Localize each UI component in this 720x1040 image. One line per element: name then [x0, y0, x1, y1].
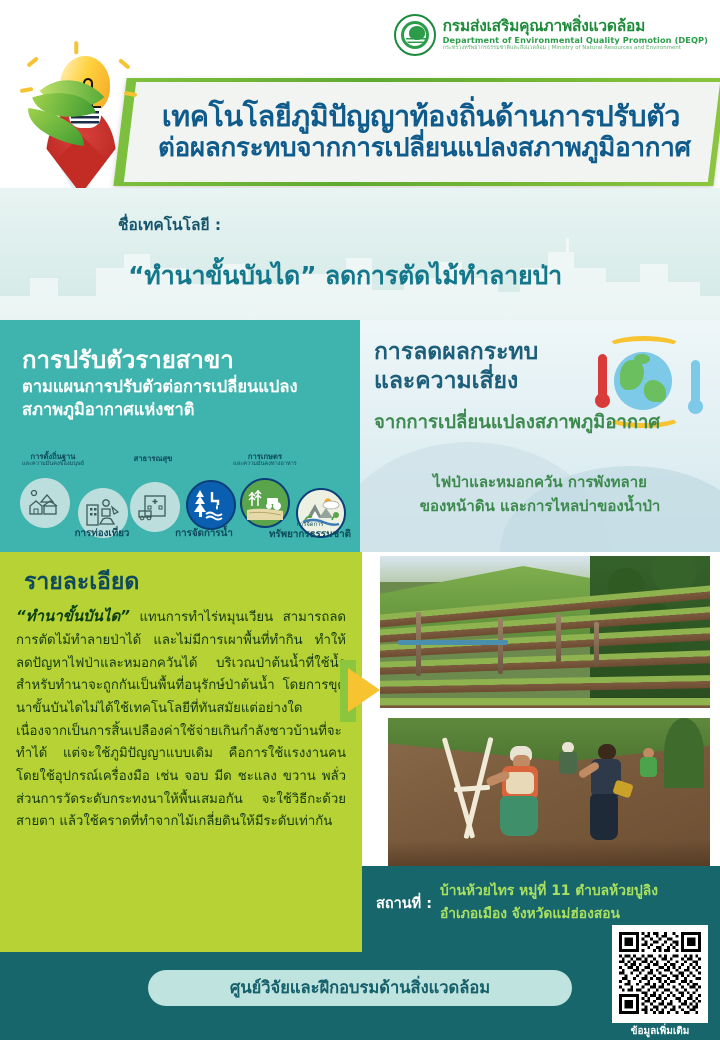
sector-label-water-management: การจัดการน้ำ [158, 528, 250, 540]
technology-label: ชื่อเทคโนโลยี : [118, 212, 221, 237]
sector-item-public-health[interactable] [130, 482, 180, 532]
mitigation-panel: การลดผลกระทบ และความเสี่ยง จากการเปลี่ยน… [360, 320, 720, 552]
adaptation-panel-subtitle: ตามแผนการปรับตัวต่อการเปลี่ยนแปลง สภาพภู… [22, 376, 342, 422]
detail-block: รายละเอียด “ทำนาขั้นบันได” แทนการทำไร่หม… [0, 552, 362, 952]
mitigation-risk-text: ไฟป่าและหมอกควัน การพังทลาย ของหน้าดิน แ… [360, 470, 720, 518]
tourism-icon [85, 498, 121, 528]
adaptation-subtitle-line1: ตามแผนการปรับตัวต่อการเปลี่ยนแปลง [22, 377, 298, 396]
mitigation-panel-subtitle: จากการเปลี่ยนแปลงสภาพภูมิอากาศ [374, 408, 704, 437]
detail-paragraph: แทนการทำไร่หมุนเวียน สามารถลดการตัดไม้ทำ… [16, 610, 346, 829]
technology-name-band: ชื่อเทคโนโลยี : “ทำนาขั้นบันได” ลดการตัด… [0, 188, 720, 320]
sector-label-natural-resources: การจัดการ ทรัพยากรธรรมชาติ [258, 522, 362, 541]
qr-code-box[interactable] [612, 925, 708, 1023]
deqp-logo: กรมส่งเสริมคุณภาพสิ่งแวดล้อม Department … [394, 14, 708, 56]
qr-caption: ข้อมูลเพิ่มเติม [612, 1024, 708, 1039]
main-title-ribbon: เทคโนโลยีภูมิปัญญาท้องถิ่นด้านการปรับตัว… [113, 78, 720, 186]
sector-label-agriculture: การเกษตร และความมั่นคงทางอาหาร [220, 452, 310, 468]
farmers-leveling-field-photo [388, 718, 710, 866]
location-value: บ้านห้วยไทร หมู่ที่ 11 ตำบลห้วยปูลิง อำเ… [440, 880, 710, 926]
agriculture-icon [245, 486, 285, 520]
org-name-thai: กรมส่งเสริมคุณภาพสิ่งแวดล้อม [443, 18, 708, 34]
location-line1: บ้านห้วยไทร หมู่ที่ 11 ตำบลห้วยปูลิง [440, 883, 658, 899]
mitigation-panel-title: การลดผลกระทบ และความเสี่ยง [374, 338, 538, 396]
public-health-icon [137, 492, 173, 522]
risk-line2: ของหน้าดิน และการไหลบ่าของน้ำป่า [420, 497, 661, 515]
sector-item-agriculture[interactable] [240, 478, 290, 528]
water-management-icon [192, 488, 230, 522]
org-ministry-line: กระทรวงทรัพยากรธรรมชาติและสิ่งแวดล้อม | … [443, 46, 708, 52]
thermometer-cold-icon [691, 360, 700, 406]
qr-code-icon [619, 932, 701, 1014]
poster-root: กรมส่งเสริมคุณภาพสิ่งแวดล้อม Department … [0, 0, 720, 1040]
farmer-background [638, 748, 662, 790]
sector-label-tourism: การท่องเที่ยว [52, 528, 152, 540]
center-name-label: ศูนย์วิจัยและฝึกอบรมด้านสิ่งแวดล้อม [230, 975, 490, 1001]
thermometer-hot-icon [598, 354, 607, 400]
sector-item-settlement[interactable] [20, 478, 70, 528]
main-title-line2: ต่อผลกระทบจากการเปลี่ยนแปลงสภาพภูมิอากาศ [158, 133, 712, 163]
main-title-line1: เทคโนโลยีภูมิปัญญาท้องถิ่นด้านการปรับตัว [162, 100, 716, 133]
farmer-background [556, 742, 582, 788]
ray-icon [26, 56, 38, 67]
sector-icon-row: การตั้งถิ่นฐาน และความมั่นคงของมนุษย์ [0, 452, 360, 552]
sector-label-settlement: การตั้งถิ่นฐาน และความมั่นคงของมนุษย์ [6, 452, 100, 468]
org-name-english: Department of Environmental Quality Prom… [443, 36, 708, 45]
terraced-rice-field-photo [380, 556, 710, 708]
settlement-icon [28, 488, 62, 518]
deqp-seal-icon [394, 14, 436, 56]
location-label: สถานที่ : [376, 892, 432, 915]
ray-icon [75, 41, 79, 54]
mitigation-title-line1: การลดผลกระทบ [374, 339, 538, 365]
adaptation-panel-title: การปรับตัวรายสาขา [22, 340, 234, 379]
sector-item-water-management[interactable] [186, 480, 236, 530]
ray-icon [20, 87, 33, 93]
earth-globe-icon [614, 352, 672, 410]
seal-water-icon [406, 38, 428, 45]
farmer-with-level [496, 746, 548, 850]
detail-body: “ทำนาขั้นบันได” แทนการทำไร่หมุนเวียน สาม… [16, 604, 346, 834]
sector-label-public-health: สาธารณสุข [114, 454, 192, 463]
detail-lead: “ทำนาขั้นบันได” [16, 607, 130, 625]
farmer-working [586, 744, 630, 852]
detail-title: รายละเอียด [24, 564, 139, 600]
center-name-pill[interactable]: ศูนย์วิจัยและฝึกอบรมด้านสิ่งแวดล้อม [148, 970, 572, 1006]
risk-line1: ไฟป่าและหมอกควัน การพังทลาย [433, 473, 647, 491]
ray-icon [118, 58, 130, 69]
adaptation-subtitle-line2: สภาพภูมิอากาศแห่งชาติ [22, 400, 195, 419]
location-line2: อำเภอเมือง จังหวัดแม่ฮ่องสอน [440, 906, 620, 922]
mitigation-title-line2: และความเสี่ยง [374, 368, 518, 394]
header-band: กรมส่งเสริมคุณภาพสิ่งแวดล้อม Department … [0, 0, 720, 200]
yellow-arrow-icon [348, 668, 380, 712]
technology-name: “ทำนาขั้นบันได” ลดการตัดไม้ทำลายป่า [0, 256, 690, 296]
